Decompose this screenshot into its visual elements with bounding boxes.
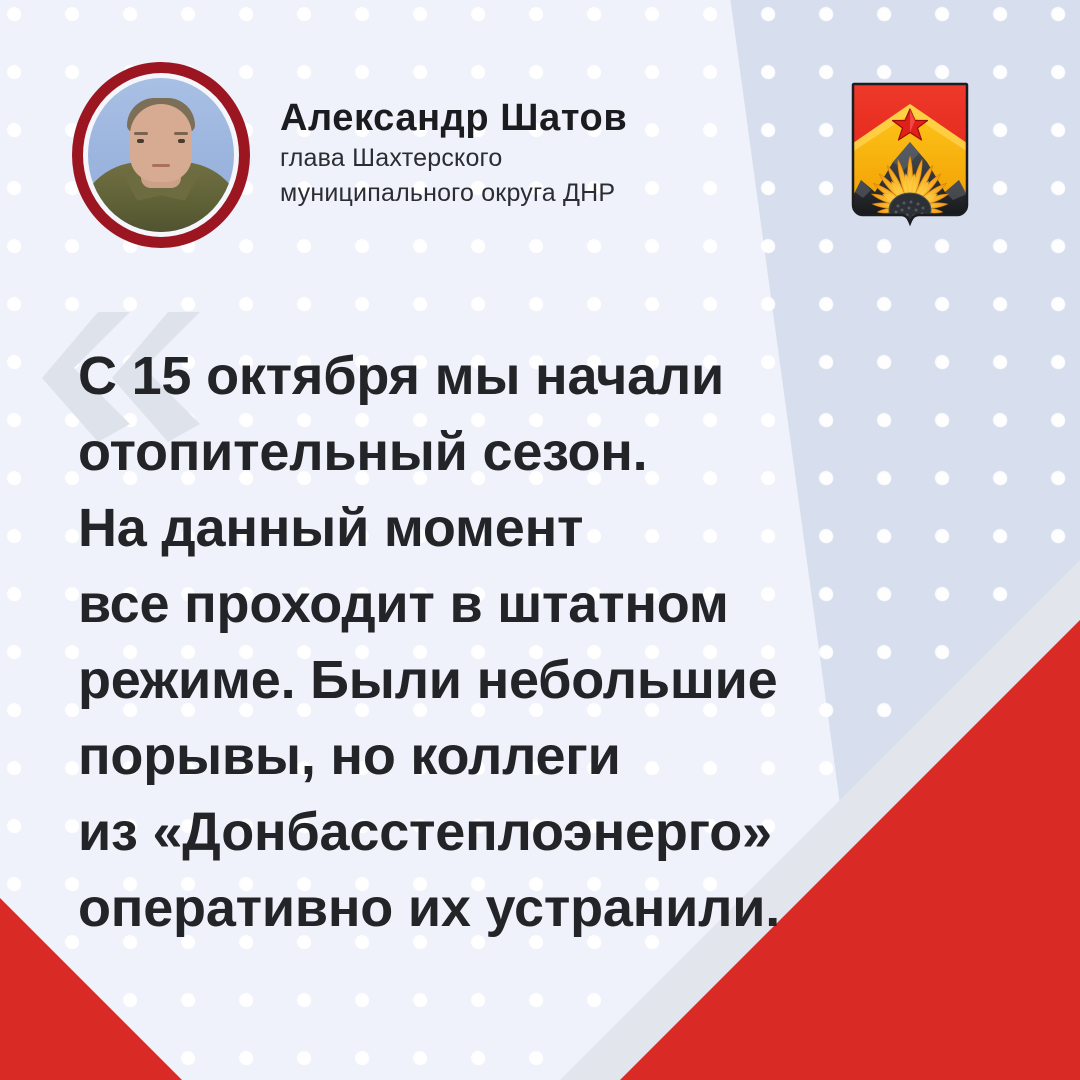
portrait-head [130,104,192,182]
quote-card: Александр Шатов глава Шахтерского муници… [0,0,1080,1080]
quote-line: из «Донбасстеплоэнерго» [78,794,918,870]
portrait-eye-left [137,139,144,143]
coat-of-arms-icon [849,80,971,245]
quote-text: С 15 октября мы начали отопительный сезо… [78,338,918,946]
speaker-header: Александр Шатов глава Шахтерского муници… [72,62,627,248]
speaker-role-line-1: глава Шахтерского [280,143,627,174]
portrait-brow-left [134,132,148,135]
speaker-role-line-2: муниципального округа ДНР [280,178,627,209]
quote-line: порывы, но коллеги [78,718,918,794]
quote-line: оперативно их устранили. [78,870,918,946]
portrait-mouth [152,164,170,167]
avatar-ring [72,62,250,248]
quote-line: С 15 октября мы начали [78,338,918,414]
portrait-eye-right [178,139,185,143]
quote-line: На данный момент [78,490,918,566]
avatar-inner-gap [83,73,239,237]
speaker-identity: Александр Шатов глава Шахтерского муници… [280,97,627,214]
portrait-brow-right [174,132,188,135]
quote-line: отопительный сезон. [78,414,918,490]
speaker-name: Александр Шатов [280,97,627,140]
avatar [88,78,234,232]
quote-line: все проходит в штатном [78,566,918,642]
quote-line: режиме. Были небольшие [78,642,918,718]
